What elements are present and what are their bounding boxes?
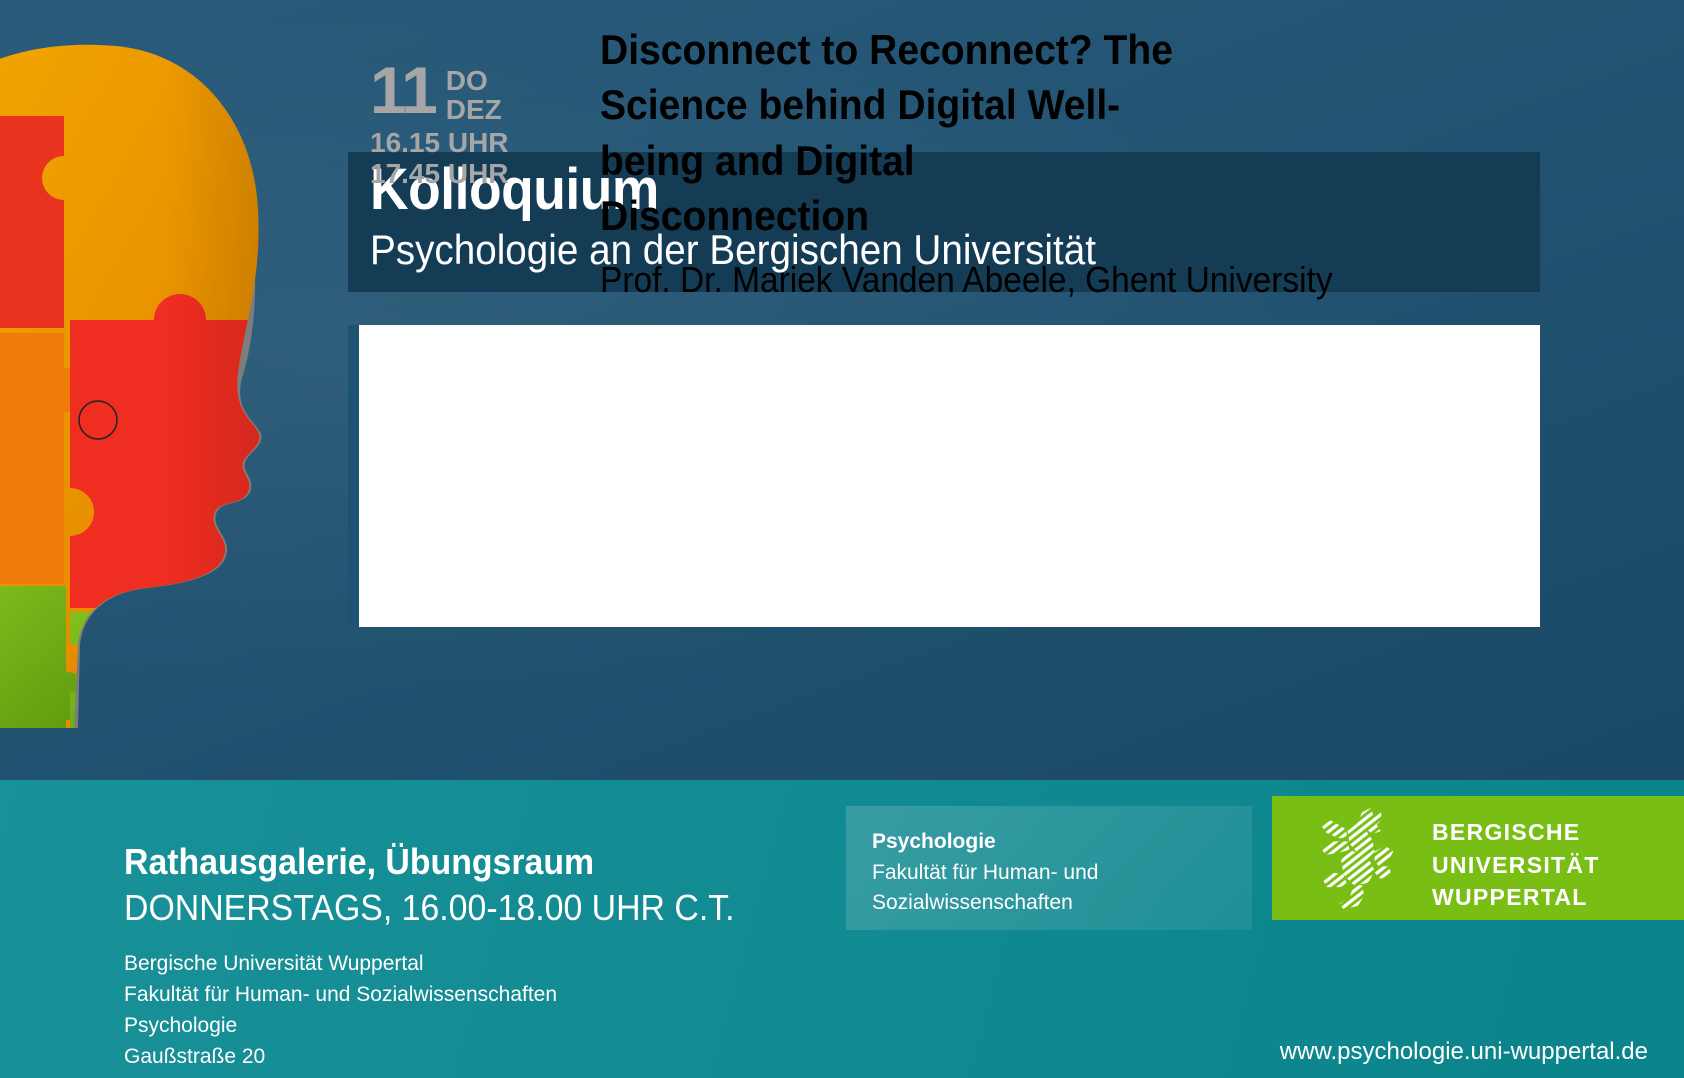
department-faculty-line: Sozialwissenschaften [872,888,1098,918]
puzzle-head-illustration [0,28,316,728]
address-line: 42119 Wuppertal [124,1072,557,1078]
event-times: 16.15 UHR 17.45 UHR [370,127,550,190]
event-weekday: DO [446,66,502,95]
department-faculty: Fakultät für Human- und Sozialwissenscha… [872,858,1098,918]
address-line: Gaußstraße 20 [124,1041,557,1072]
university-wordmark-line: WUPPERTAL [1432,881,1600,914]
talk-block: Disconnect to Reconnect? The Science beh… [600,22,1160,301]
department-info-box: Psychologie Fakultät für Human- und Sozi… [846,806,1252,930]
event-time-end: 17.45 UHR [370,158,550,189]
card-accent-bar [348,325,359,627]
university-wordmark: BERGISCHE UNIVERSITÄT WUPPERTAL [1432,816,1600,914]
event-day-number: 11 [370,60,436,121]
address-block: Bergische Universität Wuppertal Fakultät… [124,948,557,1078]
talk-title: Disconnect to Reconnect? The Science beh… [600,22,1177,244]
address-line: Psychologie [124,1010,557,1041]
address-line: Fakultät für Human- und Sozialwissenscha… [124,979,557,1010]
address-line: Bergische Universität Wuppertal [124,948,557,979]
university-logo-block: BERGISCHE UNIVERSITÄT WUPPERTAL [1272,796,1684,920]
event-card [348,325,1540,627]
footer-teal-panel: Rathausgalerie, Übungsraum DONNERSTAGS, … [0,780,1684,1078]
university-wordmark-line: UNIVERSITÄT [1432,849,1600,882]
date-row: 11 DO DEZ [370,60,550,125]
poster-canvas: Kolloquium Psychologie an der Bergischen… [0,0,1684,1078]
university-wordmark-line: BERGISCHE [1432,816,1600,849]
department-title: Psychologie [872,828,996,856]
wuppertal-lion-crest-icon [1308,806,1412,910]
venue-line: Rathausgalerie, Übungsraum [124,842,594,882]
event-month: DEZ [446,95,502,124]
event-weekday-month: DO DEZ [446,66,502,125]
website-url[interactable]: www.psychologie.uni-wuppertal.de [1280,1038,1648,1066]
talk-speaker: Prof. Dr. Mariek Vanden Abeele, Ghent Un… [600,258,1121,301]
department-faculty-line: Fakultät für Human- und [872,858,1098,888]
schedule-line: DONNERSTAGS, 16.00-18.00 UHR C.T. [124,888,735,928]
event-time-start: 16.15 UHR [370,127,550,158]
event-date-block: 11 DO DEZ 16.15 UHR 17.45 UHR [370,60,550,190]
